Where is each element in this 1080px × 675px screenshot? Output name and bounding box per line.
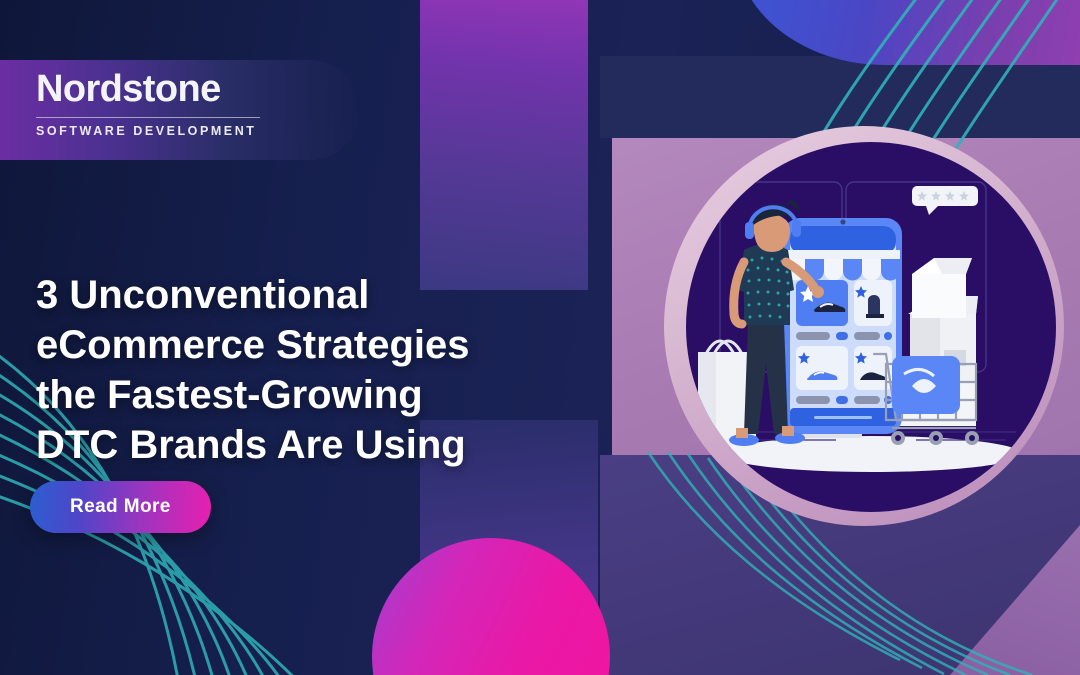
person-hand xyxy=(812,286,824,298)
headline-line-3: the Fastest-Growing xyxy=(36,370,596,420)
person-arm-left xyxy=(734,262,744,324)
page-title: 3 Unconventional eCommerce Strategies th… xyxy=(36,270,596,470)
decor-dark-band xyxy=(600,56,1080,138)
headline-line-2: eCommerce Strategies xyxy=(36,320,596,370)
person-trousers xyxy=(744,322,788,434)
ecommerce-illustration xyxy=(686,142,1056,512)
phone-camera xyxy=(840,219,845,224)
brand-tagline: SOFTWARE DEVELOPMENT xyxy=(36,124,336,138)
cart-contents xyxy=(892,356,960,414)
headline-line-4: DTC Brands Are Using xyxy=(36,420,596,470)
phone-header xyxy=(790,226,896,254)
headline-line-4-strong: DTC Brands xyxy=(36,423,267,467)
headphone-ear-left xyxy=(745,222,754,239)
headphone-ear-right xyxy=(792,220,801,237)
rating-bubble xyxy=(912,186,978,215)
brand-logo[interactable]: Nordstone SOFTWARE DEVELOPMENT xyxy=(36,70,336,138)
mobile-storefront xyxy=(784,218,902,438)
brand-name: Nordstone xyxy=(36,70,336,110)
illustration-circle xyxy=(686,142,1056,512)
logo-divider xyxy=(36,117,260,118)
blog-banner: Nordstone SOFTWARE DEVELOPMENT 3 Unconve… xyxy=(0,0,1080,675)
decor-purple-band-top xyxy=(420,0,588,290)
headline-line-1: 3 Unconventional xyxy=(36,270,596,320)
headline-line-4-light: Are Using xyxy=(267,423,466,467)
read-more-button[interactable]: Read More xyxy=(30,481,211,533)
